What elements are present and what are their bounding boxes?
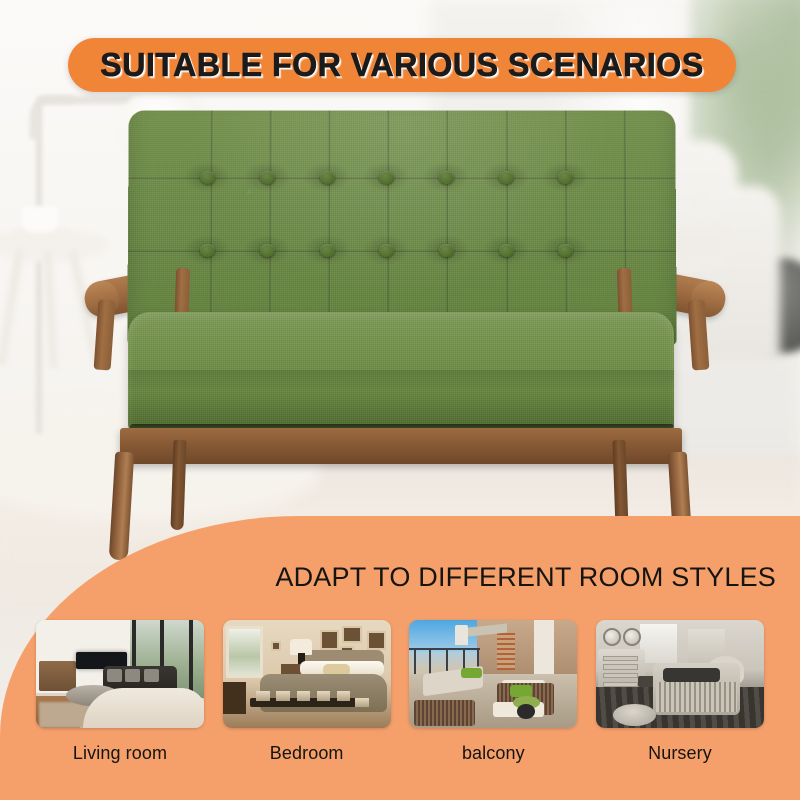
product-marketing-image: SUITABLE FOR VARIOUS SCENARIOS ADAPT TO … xyxy=(0,0,800,800)
tufting-button xyxy=(439,244,454,257)
sofa-wooden-apron xyxy=(120,428,682,464)
scene-card-living-room[interactable]: Living room xyxy=(36,620,204,764)
tufting-button xyxy=(499,244,514,257)
living-room-thumbnail[interactable] xyxy=(36,620,204,728)
tufting-button xyxy=(320,171,335,184)
tufting-button xyxy=(438,171,453,184)
headline-banner-text: SUITABLE FOR VARIOUS SCENARIOS xyxy=(100,46,704,84)
tufting-button xyxy=(378,244,393,257)
sofa-leg-back-left xyxy=(170,440,186,530)
headline-banner: SUITABLE FOR VARIOUS SCENARIOS xyxy=(68,38,736,92)
room-styles-panel: ADAPT TO DIFFERENT ROOM STYLES xyxy=(0,516,800,800)
tufting-button xyxy=(259,244,274,257)
balcony-thumbnail[interactable] xyxy=(409,620,577,728)
scene-card-balcony[interactable]: balcony xyxy=(409,620,577,764)
bedroom-thumbnail[interactable] xyxy=(223,620,391,728)
sofa-backrest xyxy=(127,110,677,345)
tufting-button xyxy=(319,244,334,257)
room-styles-heading: ADAPT TO DIFFERENT ROOM STYLES xyxy=(0,562,776,593)
scene-label-nursery: Nursery xyxy=(648,743,712,764)
sofa-seat-cushion xyxy=(128,312,674,434)
scene-card-bedroom[interactable]: Bedroom xyxy=(223,620,391,764)
tufting-button xyxy=(199,244,214,257)
tufting-button xyxy=(558,244,573,257)
tufting-button xyxy=(200,171,215,184)
scene-label-bedroom: Bedroom xyxy=(270,743,344,764)
tufting-button xyxy=(557,171,572,184)
tufting-button xyxy=(260,171,275,184)
scene-label-living-room: Living room xyxy=(73,743,167,764)
room-styles-thumbnail-row: Living room xyxy=(0,620,800,764)
sofa-post-left-front xyxy=(94,299,116,370)
tufting-button xyxy=(498,171,513,184)
nursery-thumbnail[interactable] xyxy=(596,620,764,728)
tufting-button xyxy=(379,171,394,184)
scene-label-balcony: balcony xyxy=(462,743,525,764)
scene-card-nursery[interactable]: Nursery xyxy=(596,620,764,764)
